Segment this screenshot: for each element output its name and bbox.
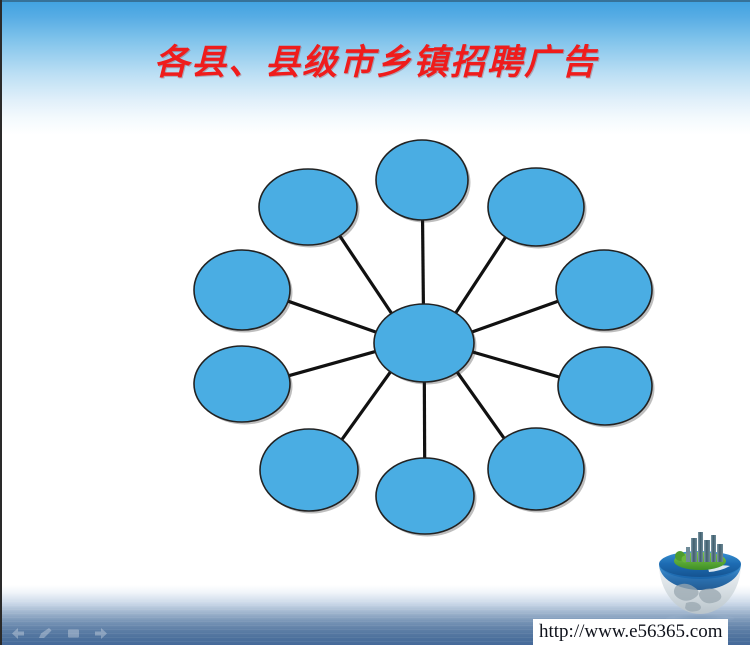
spoke-to-node-bottom-right — [457, 372, 504, 438]
nav-previous-icon[interactable] — [8, 626, 27, 641]
watermark-url: http://www.e56365.com — [533, 619, 728, 645]
city-buildings — [686, 532, 723, 562]
node-bottom-left[interactable] — [260, 429, 358, 511]
nav-pen-icon[interactable] — [36, 626, 55, 641]
radial-hub-and-spoke-diagram — [2, 0, 750, 645]
spoke-to-node-right-lower — [473, 352, 560, 377]
node-right-upper[interactable] — [556, 250, 652, 330]
node-top[interactable] — [376, 140, 468, 220]
globe-city-graphic — [652, 528, 748, 624]
node-bottom[interactable] — [376, 458, 474, 534]
spoke-to-node-left-lower — [289, 352, 375, 376]
slideshow-nav-controls[interactable] — [8, 626, 111, 641]
node-left-lower[interactable] — [194, 346, 290, 422]
spoke-to-node-bottom-left — [342, 372, 391, 440]
nav-next-icon[interactable] — [92, 626, 111, 641]
node-bottom-right[interactable] — [488, 428, 584, 510]
spoke-to-node-upper-right — [456, 237, 506, 313]
nav-menu-icon[interactable] — [64, 626, 83, 641]
node-upper-right[interactable] — [488, 168, 584, 246]
node-upper-left[interactable] — [259, 169, 357, 245]
presentation-slide: 各县、县级市乡镇招聘广告 — [0, 0, 750, 645]
diagram-nodes — [194, 140, 655, 537]
globe-svg — [652, 528, 748, 624]
spoke-to-node-upper-left — [340, 236, 392, 313]
node-left-upper[interactable] — [194, 250, 290, 330]
spoke-to-node-right-upper — [472, 301, 558, 332]
node-right-lower[interactable] — [558, 347, 652, 425]
center-node[interactable] — [374, 304, 474, 382]
spoke-to-node-left-upper — [288, 301, 376, 332]
spoke-to-node-top — [423, 220, 424, 304]
